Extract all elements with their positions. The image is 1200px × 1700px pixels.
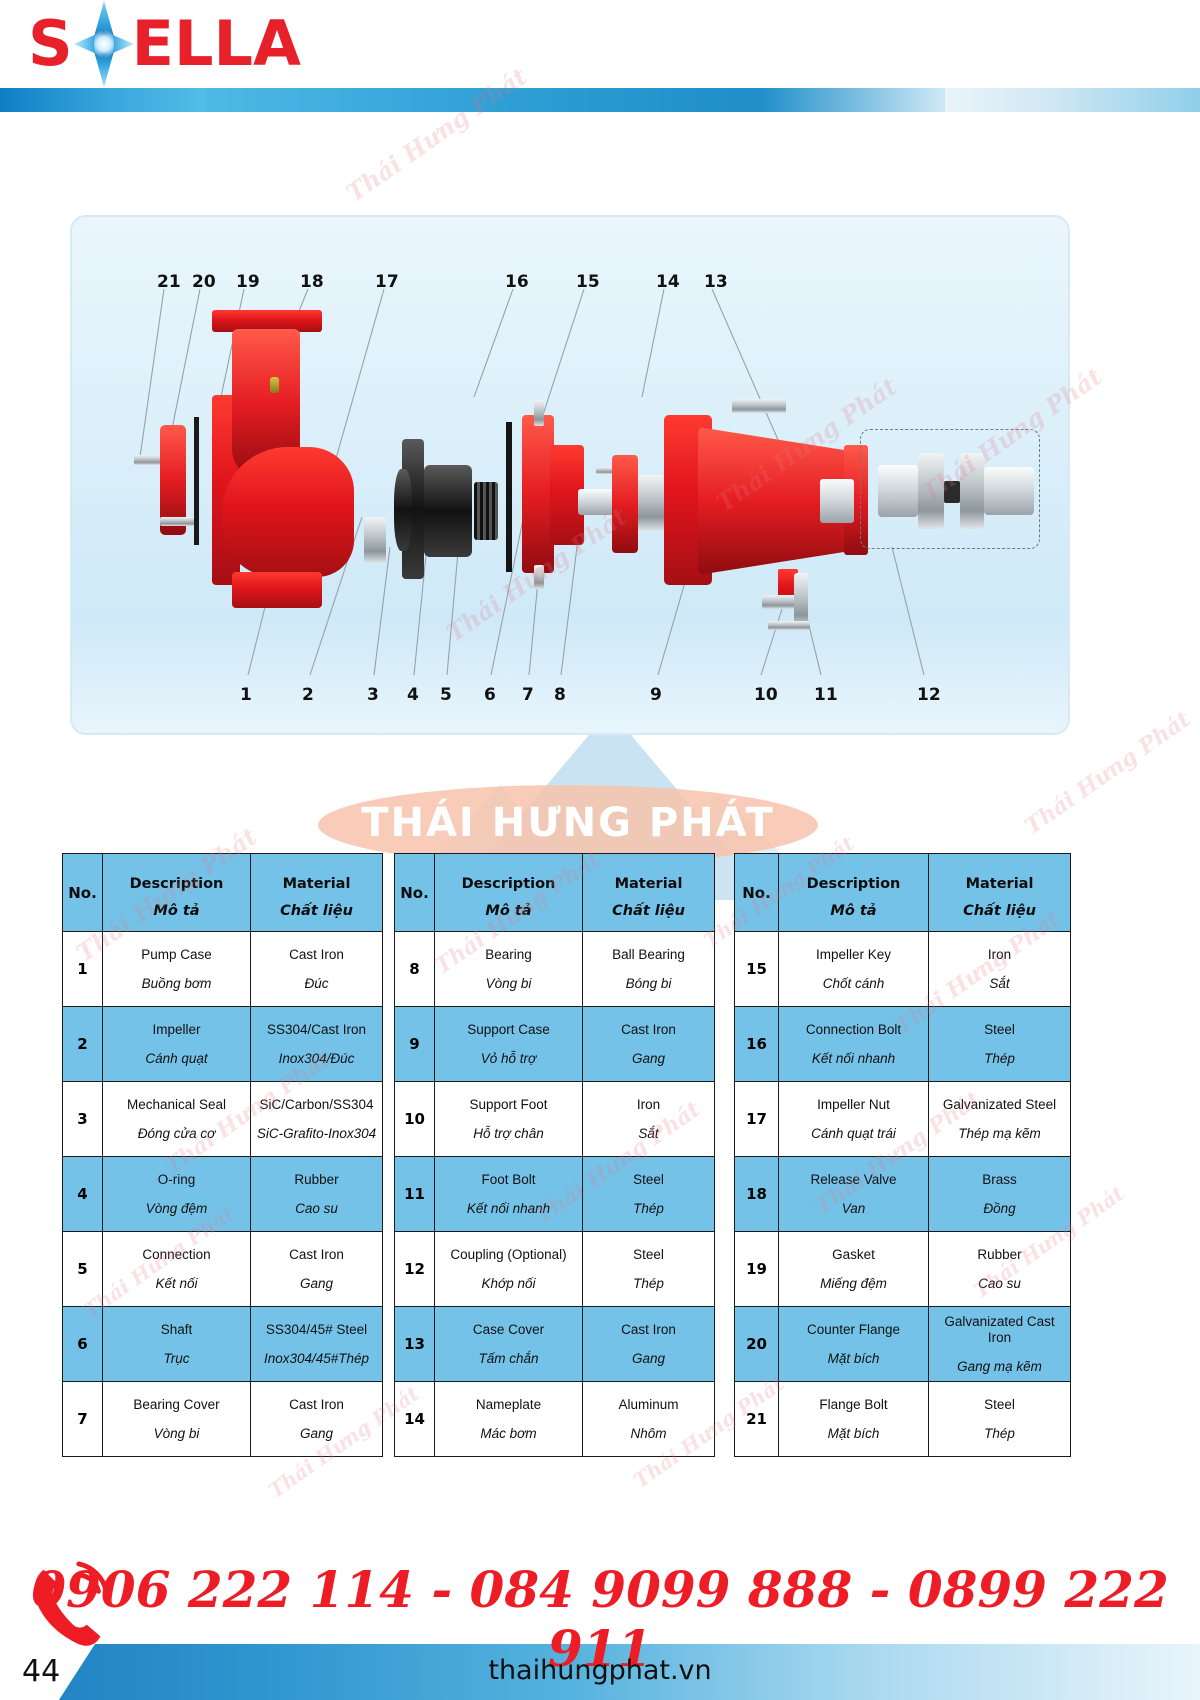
- foot-bolt-nut: [768, 621, 810, 630]
- table-row: 6ShaftTrụcSS304/45# SteelInox304/45#Thép: [63, 1307, 383, 1382]
- seal-spring-part: [474, 482, 498, 540]
- row-number: 9: [395, 1007, 435, 1082]
- rear-bearing-part: [820, 479, 854, 523]
- coupling-insert: [944, 481, 960, 503]
- header-description: DescriptionMô tả: [435, 854, 583, 932]
- header-description: DescriptionMô tả: [103, 854, 251, 932]
- row-description: Counter FlangeMặt bích: [779, 1307, 929, 1382]
- table-row: 2ImpellerCánh quạtSS304/Cast IronInox304…: [63, 1007, 383, 1082]
- coupling-disc-right: [960, 453, 984, 529]
- row-description: NameplateMác bơm: [435, 1382, 583, 1457]
- gasket-part: [194, 417, 199, 545]
- header-accent-bar: [0, 88, 1200, 112]
- row-number: 6: [63, 1307, 103, 1382]
- row-number: 18: [735, 1157, 779, 1232]
- row-number: 7: [63, 1382, 103, 1457]
- table-row: 15Impeller KeyChốt cánhIronSắt: [735, 932, 1071, 1007]
- table-row: 7Bearing CoverVòng biCast IronGang: [63, 1382, 383, 1457]
- row-description: Case CoverTấm chắn: [435, 1307, 583, 1382]
- table-row: 18Release ValveVanBrassĐồng: [735, 1157, 1071, 1232]
- bearing-part: [638, 475, 666, 531]
- coupling-hub-left: [878, 465, 918, 517]
- table-row: 5ConnectionKết nốiCast IronGang: [63, 1232, 383, 1307]
- website-url: thaihungphat.vn: [0, 1655, 1200, 1686]
- flange-bolt-lower: [160, 517, 194, 526]
- row-description: Support FootHỗ trợ chân: [435, 1082, 583, 1157]
- row-description: Impeller NutCánh quạt trái: [779, 1082, 929, 1157]
- parts-table-block-1: No.DescriptionMô tảMaterialChất liệu1Pum…: [62, 853, 382, 1453]
- row-description: Release ValveVan: [779, 1157, 929, 1232]
- phone-ringing-icon: [22, 1558, 120, 1656]
- table-header-row: No.DescriptionMô tảMaterialChất liệu: [735, 854, 1071, 932]
- header-no: No.: [735, 854, 779, 932]
- row-material: Cast IronĐúc: [251, 932, 383, 1007]
- logo-suffix: ELLA: [132, 13, 301, 75]
- mechanical-seal-body: [424, 465, 472, 557]
- row-description: Foot BoltKết nối nhanh: [435, 1157, 583, 1232]
- row-material: RubberCao su: [929, 1232, 1071, 1307]
- header-material: MaterialChất liệu: [583, 854, 715, 932]
- table-row: 13Case CoverTấm chắnCast IronGang: [395, 1307, 715, 1382]
- row-material: Cast IronGang: [583, 1007, 715, 1082]
- table-row: 12Coupling (Optional)Khớp nốiSteelThép: [395, 1232, 715, 1307]
- table-row: 21Flange BoltMặt bíchSteelThép: [735, 1382, 1071, 1457]
- row-number: 1: [63, 932, 103, 1007]
- table-row: 16Connection BoltKết nối nhanhSteelThép: [735, 1007, 1071, 1082]
- table-header-row: No.DescriptionMô tảMaterialChất liệu: [395, 854, 715, 932]
- row-number: 16: [735, 1007, 779, 1082]
- header-material: MaterialChất liệu: [251, 854, 383, 932]
- row-material: SS304/45# SteelInox304/45#Thép: [251, 1307, 383, 1382]
- row-material: SiC/Carbon/SS304SiC-Grafito-Inox304: [251, 1082, 383, 1157]
- row-description: GasketMiếng đệm: [779, 1232, 929, 1307]
- row-number: 15: [735, 932, 779, 1007]
- row-material: Ball BearingBóng bi: [583, 932, 715, 1007]
- row-material: SteelThép: [929, 1382, 1071, 1457]
- row-material: IronSắt: [929, 932, 1071, 1007]
- row-description: BearingVòng bi: [435, 932, 583, 1007]
- brand-watermark-text: THÁI HƯNG PHÁT: [318, 800, 818, 846]
- row-description: Connection BoltKết nối nhanh: [779, 1007, 929, 1082]
- row-number: 2: [63, 1007, 103, 1082]
- row-material: Galvanizated SteelThép mạ kẽm: [929, 1082, 1071, 1157]
- logo-prefix: S: [28, 13, 74, 75]
- header-description: DescriptionMô tả: [779, 854, 929, 932]
- pump-case-volute: [222, 447, 354, 577]
- table-row: 4O-ringVòng đệmRubberCao su: [63, 1157, 383, 1232]
- table-row: 1Pump CaseBuồng bơmCast IronĐúc: [63, 932, 383, 1007]
- table-row: 3Mechanical SealĐóng cửa cơSiC/Carbon/SS…: [63, 1082, 383, 1157]
- row-material: SS304/Cast IronInox304/Đúc: [251, 1007, 383, 1082]
- row-description: Bearing CoverVòng bi: [103, 1382, 251, 1457]
- table-row: 14NameplateMác bơmAluminumNhôm: [395, 1382, 715, 1457]
- row-description: Mechanical SealĐóng cửa cơ: [103, 1082, 251, 1157]
- header-no: No.: [395, 854, 435, 932]
- row-description: ImpellerCánh quạt: [103, 1007, 251, 1082]
- row-number: 11: [395, 1157, 435, 1232]
- row-number: 5: [63, 1232, 103, 1307]
- table-row: 8BearingVòng biBall BearingBóng bi: [395, 932, 715, 1007]
- row-description: ConnectionKết nối: [103, 1232, 251, 1307]
- row-material: Cast IronGang: [583, 1307, 715, 1382]
- nameplate-part: [732, 399, 786, 413]
- mechanical-seal-ring: [394, 469, 412, 551]
- four-point-star-icon: [72, 1, 136, 87]
- row-material: SteelThép: [929, 1007, 1071, 1082]
- header-material: MaterialChất liệu: [929, 854, 1071, 932]
- row-number: 14: [395, 1382, 435, 1457]
- table-row: 20Counter FlangeMặt bíchGalvanizated Cas…: [735, 1307, 1071, 1382]
- row-description: ShaftTrục: [103, 1307, 251, 1382]
- page-header: S ELLA: [0, 0, 1200, 95]
- row-description: O-ringVòng đệm: [103, 1157, 251, 1232]
- row-number: 4: [63, 1157, 103, 1232]
- parts-table-block-3: No.DescriptionMô tảMaterialChất liệu15Im…: [734, 853, 1070, 1453]
- row-material: SteelThép: [583, 1157, 715, 1232]
- header-no: No.: [63, 854, 103, 932]
- row-description: Coupling (Optional)Khớp nối: [435, 1232, 583, 1307]
- row-material: Galvanizated Cast IronGang mạ kẽm: [929, 1307, 1071, 1382]
- o-ring-part: [506, 422, 512, 572]
- pump-case-foot: [232, 572, 322, 608]
- row-material: BrassĐồng: [929, 1157, 1071, 1232]
- table-row: 10Support FootHỗ trợ chânIronSắt: [395, 1082, 715, 1157]
- row-material: IronSắt: [583, 1082, 715, 1157]
- parts-table: No.DescriptionMô tảMaterialChất liệu1Pum…: [62, 853, 1070, 1453]
- bearing-cover-part: [612, 455, 638, 553]
- table-header-row: No.DescriptionMô tảMaterialChất liệu: [63, 854, 383, 932]
- row-material: RubberCao su: [251, 1157, 383, 1232]
- table-row: 9Support CaseVỏ hỗ trợCast IronGang: [395, 1007, 715, 1082]
- row-number: 13: [395, 1307, 435, 1382]
- connection-bolt-lower: [534, 565, 544, 589]
- row-material: Cast IronGang: [251, 1382, 383, 1457]
- coupling-hub-right: [984, 467, 1034, 515]
- row-description: Flange BoltMặt bích: [779, 1382, 929, 1457]
- row-number: 8: [395, 932, 435, 1007]
- table-row: 17Impeller NutCánh quạt tráiGalvanizated…: [735, 1082, 1071, 1157]
- parts-table-block-2: No.DescriptionMô tảMaterialChất liệu8Bea…: [394, 853, 714, 1453]
- row-number: 10: [395, 1082, 435, 1157]
- connection-bolt-part: [534, 400, 544, 426]
- table-row: 19GasketMiếng đệmRubberCao su: [735, 1232, 1071, 1307]
- row-material: SteelThép: [583, 1232, 715, 1307]
- row-description: Impeller KeyChốt cánh: [779, 932, 929, 1007]
- row-number: 20: [735, 1307, 779, 1382]
- impeller-nut-part: [364, 517, 386, 563]
- coupling-disc-left: [918, 453, 944, 529]
- row-description: Support CaseVỏ hỗ trợ: [435, 1007, 583, 1082]
- row-description: Pump CaseBuồng bơm: [103, 932, 251, 1007]
- table-row: 11Foot BoltKết nối nhanhSteelThép: [395, 1157, 715, 1232]
- row-material: AluminumNhôm: [583, 1382, 715, 1457]
- row-number: 19: [735, 1232, 779, 1307]
- row-number: 3: [63, 1082, 103, 1157]
- row-number: 21: [735, 1382, 779, 1457]
- pump-exploded-diagram: 21 20 19 18 17 16 15 14 13 1 2 3 4 5 6 7…: [70, 215, 1070, 735]
- release-valve-part: [270, 377, 279, 393]
- row-number: 17: [735, 1082, 779, 1157]
- row-number: 12: [395, 1232, 435, 1307]
- stella-logo: S ELLA: [28, 8, 301, 80]
- row-material: Cast IronGang: [251, 1232, 383, 1307]
